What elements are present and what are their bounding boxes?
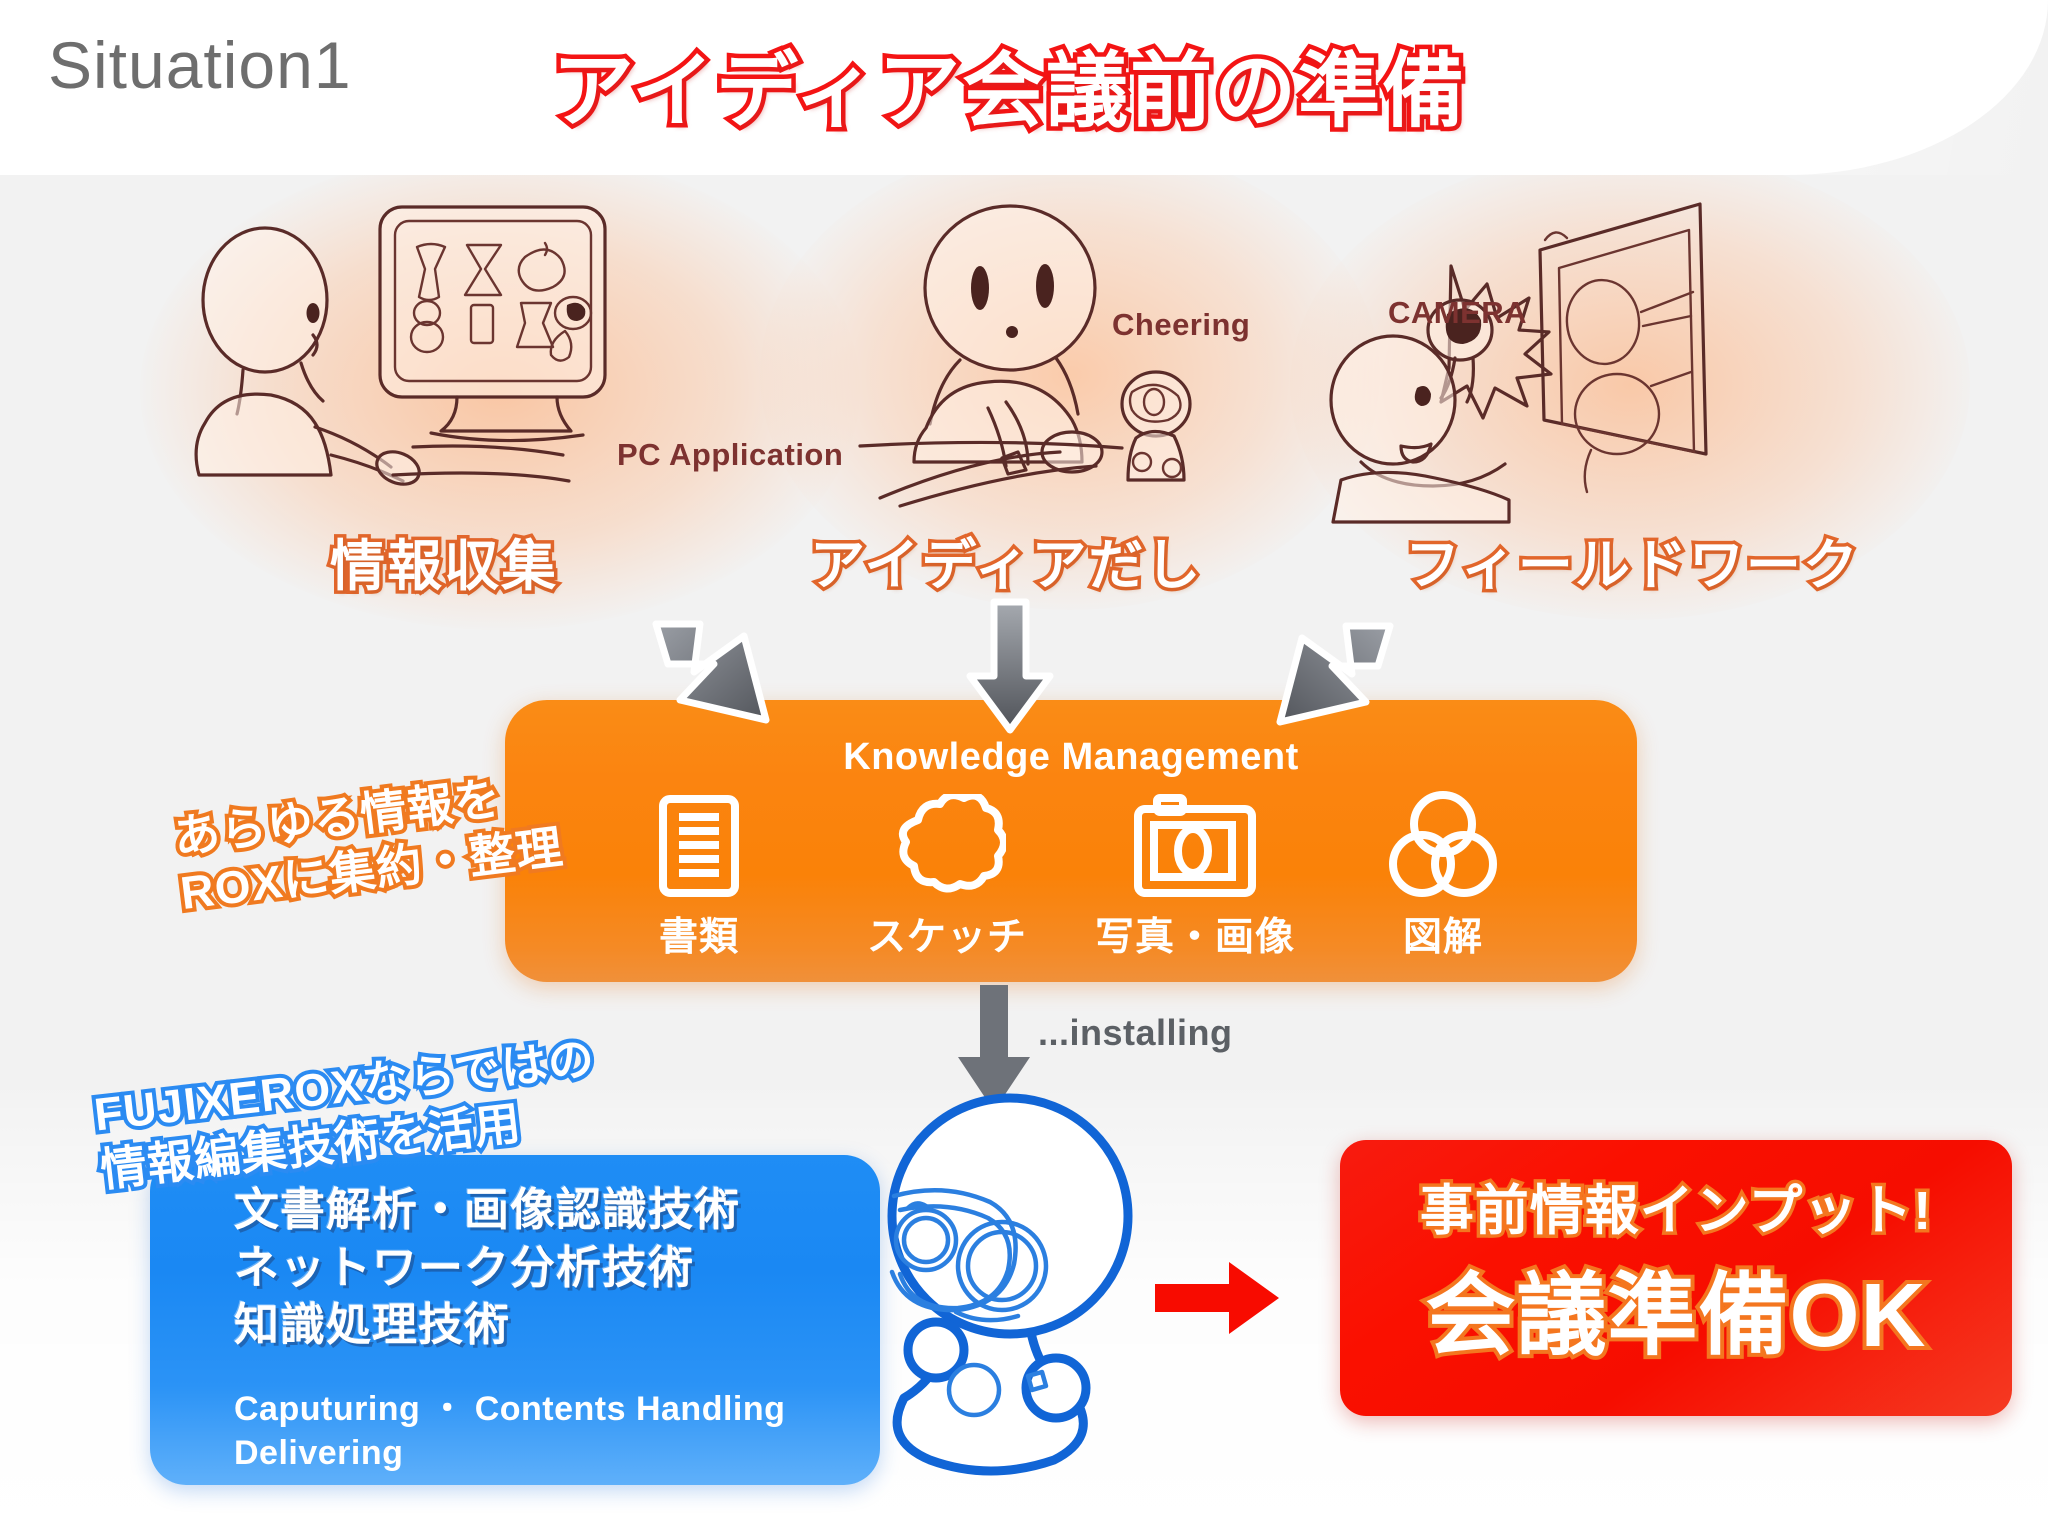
- technology-en-list: Caputuring ・ Contents Handling Deliverin…: [234, 1387, 785, 1475]
- arrow-right-into-knowledge: [1258, 612, 1398, 737]
- caption-camera: CAMERA: [1388, 295, 1527, 331]
- robot-mascot: [850, 1088, 1180, 1488]
- caption-idea-generation: アイディアだし: [810, 520, 1202, 600]
- technology-en-line-1: Caputuring ・ Contents Handling: [234, 1387, 785, 1431]
- arrow-left-into-knowledge: [648, 610, 788, 735]
- caption-field-work: フィールドワーク: [1405, 520, 1860, 600]
- venn-diagram-icon: [1384, 792, 1502, 900]
- knowledge-management-panel: Knowledge Management 書類: [505, 700, 1637, 982]
- technology-en-line-2: Delivering: [234, 1431, 785, 1475]
- result-line-1: 事前情報インプット!: [1340, 1166, 2012, 1245]
- km-label-documents: 書類: [659, 906, 739, 962]
- document-icon: [658, 792, 740, 900]
- illustration-idea-generation: [860, 190, 1310, 510]
- caption-info-gathering: 情報収集: [330, 521, 558, 601]
- technology-panel: 文書解析・画像認識技術 ネットワーク分析技術 知識処理技術 Caputuring…: [150, 1155, 880, 1485]
- km-label-photo: 写真・画像: [1095, 906, 1295, 962]
- km-label-diagram: 図解: [1403, 906, 1483, 962]
- illustration-field-work: [1355, 180, 1875, 500]
- km-item-documents[interactable]: 書類: [614, 792, 784, 962]
- technology-jp-list: 文書解析・画像認識技術 ネットワーク分析技術 知識処理技術: [234, 1181, 740, 1354]
- cloud-sketch-icon: [888, 792, 1006, 900]
- km-label-sketch: スケッチ: [867, 906, 1027, 962]
- slide-canvas: Situation1 アイディア会議前の準備: [0, 0, 2048, 1536]
- technology-jp-line-2: ネットワーク分析技術: [234, 1239, 740, 1297]
- caption-pc-application: PC Application: [617, 437, 843, 473]
- situation-label: Situation1: [48, 27, 352, 103]
- technology-jp-line-1: 文書解析・画像認識技術: [234, 1181, 740, 1239]
- camera-icon: [1133, 792, 1257, 900]
- installing-label: ...installing: [1038, 1012, 1233, 1054]
- knowledge-management-title: Knowledge Management: [505, 736, 1637, 779]
- km-item-photo[interactable]: 写真・画像: [1110, 792, 1280, 962]
- caption-cheering: Cheering: [1112, 307, 1250, 343]
- result-line-2: 会議準備OK: [1340, 1242, 2012, 1372]
- technology-jp-line-3: 知識処理技術: [234, 1296, 740, 1354]
- knowledge-management-items: 書類 スケッチ 写: [505, 792, 1637, 962]
- arrow-middle-into-knowledge: [962, 596, 1058, 736]
- km-item-diagram[interactable]: 図解: [1358, 792, 1528, 962]
- result-panel: 事前情報インプット! 会議準備OK: [1340, 1140, 2012, 1416]
- page-title: アイディア会議前の準備: [552, 24, 1466, 143]
- km-item-sketch[interactable]: スケッチ: [862, 792, 1032, 962]
